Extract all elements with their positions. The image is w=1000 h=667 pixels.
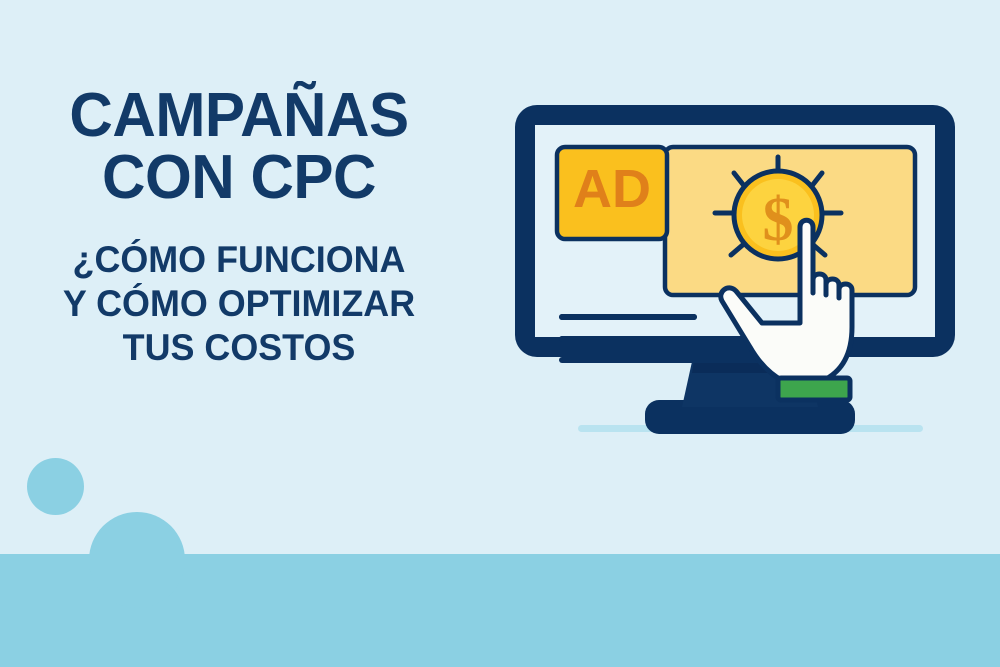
subheadline-line-3: TUS COSTOS	[7, 326, 471, 370]
subheadline-line-2: Y CÓMO OPTIMIZAR	[7, 282, 471, 326]
headline-line-1: CAMPAÑAS	[7, 86, 471, 146]
monitor-svg: AD $	[500, 95, 1000, 540]
headline-line-2: CON CPC	[7, 148, 471, 208]
decorative-circle-small	[27, 458, 84, 515]
hand-cuff	[778, 378, 850, 400]
subheadline-line-1: ¿CÓMO FUNCIONA	[7, 238, 471, 282]
ad-badge-label: AD	[573, 159, 651, 219]
banner-text-block: CAMPAÑAS CON CPC ¿CÓMO FUNCIONA Y CÓMO O…	[0, 86, 478, 369]
subheadline: ¿CÓMO FUNCIONA Y CÓMO OPTIMIZAR TUS COST…	[7, 238, 471, 369]
coin-dollar-symbol: $	[763, 186, 794, 254]
decorative-circle-large	[89, 512, 185, 608]
cpc-campaign-banner: CAMPAÑAS CON CPC ¿CÓMO FUNCIONA Y CÓMO O…	[0, 0, 1000, 667]
monitor-illustration: AD $	[500, 95, 1000, 540]
